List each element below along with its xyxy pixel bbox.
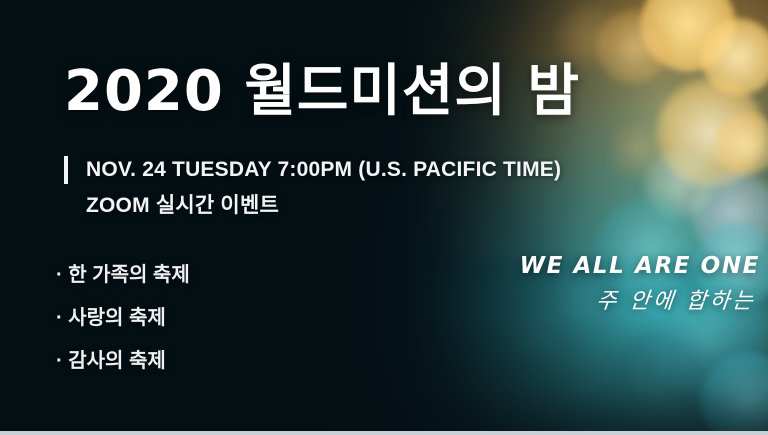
slogan-korean: 주 안에 합하는: [458, 283, 761, 315]
event-highlights-list: · 한 가족의 축제 · 사랑의 축제 · 감사의 축제: [56, 254, 190, 383]
poster-content: 2020 월드미션의 밤 NOV. 24 TUESDAY 7:00PM (U.S…: [0, 0, 768, 435]
list-item: · 사랑의 축제: [56, 297, 190, 340]
list-item: · 감사의 축제: [56, 340, 190, 383]
event-details: NOV. 24 TUESDAY 7:00PM (U.S. PACIFIC TIM…: [64, 152, 561, 224]
event-platform: ZOOM 실시간 이벤트: [64, 188, 561, 224]
list-item: · 한 가족의 축제: [56, 254, 190, 297]
slogan-block: WE ALL ARE ONE 주 안에 합하는: [460, 253, 760, 315]
slogan-english: WE ALL ARE ONE: [460, 253, 760, 279]
event-datetime: NOV. 24 TUESDAY 7:00PM (U.S. PACIFIC TIM…: [64, 152, 561, 188]
bottom-strip: [0, 431, 768, 435]
poster-title: 2020 월드미션의 밤: [64, 64, 580, 120]
event-poster: 2020 월드미션의 밤 NOV. 24 TUESDAY 7:00PM (U.S…: [0, 0, 768, 435]
